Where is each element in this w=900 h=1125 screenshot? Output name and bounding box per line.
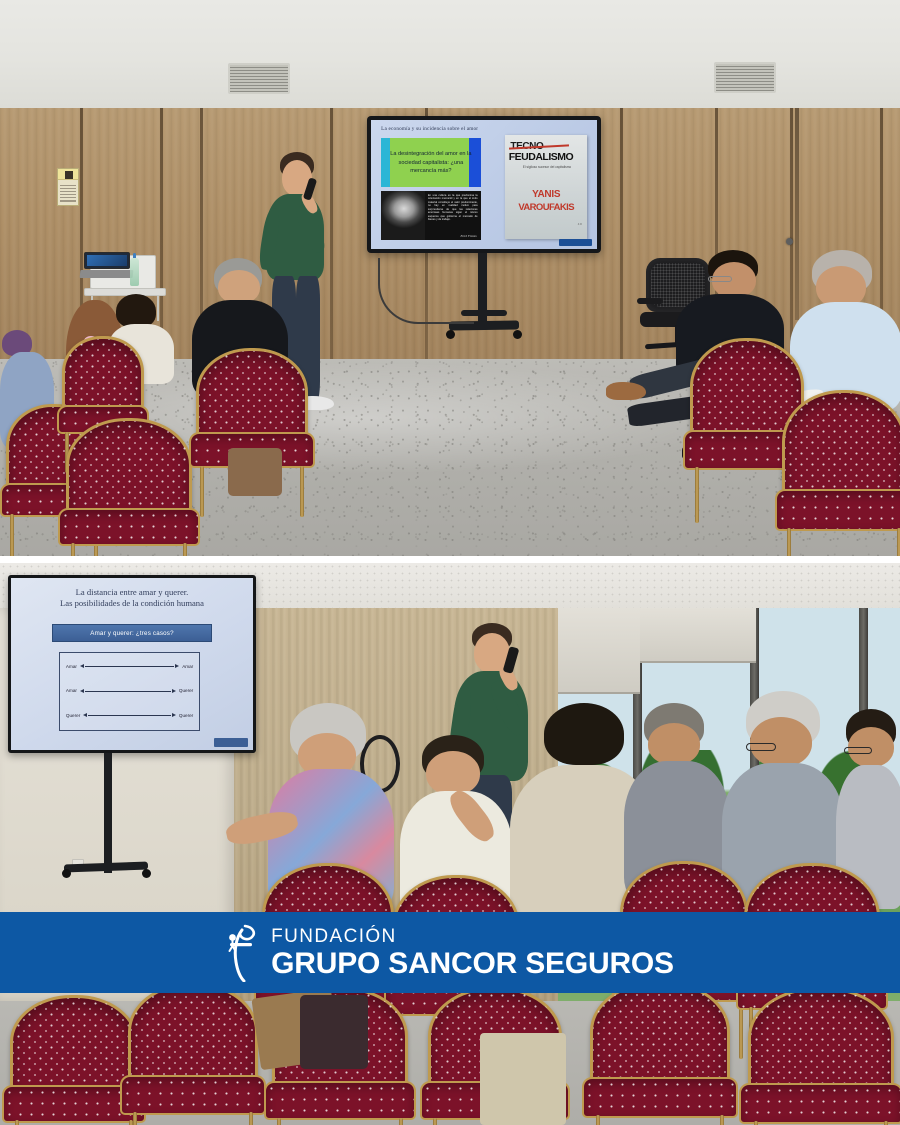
caster-wheel-icon (142, 869, 151, 878)
brand-line-fundacion: FUNDACIÓN (271, 927, 674, 946)
sponsor-banner: FUNDACIÓN GRUPO SANCOR SEGUROS (0, 912, 900, 993)
banquet-chair[interactable] (748, 987, 894, 1125)
slide-title-line2: Las posibilidades de la condición humana (21, 598, 244, 609)
slide-quote-text: En una cultura en la que predomina la or… (425, 191, 481, 240)
book-title-main: FEUDALISMO (509, 151, 584, 163)
erich-fromm-portrait (381, 191, 425, 240)
backpack (228, 448, 282, 496)
slide-title: La distancia entre amar y querer. Las po… (21, 587, 244, 609)
double-arrow-icon (80, 663, 179, 669)
caster-wheel-icon (513, 330, 522, 339)
book-price: 4 € (578, 222, 582, 226)
banquet-chair[interactable] (782, 390, 900, 540)
presentation-display: La distancia entre amar y querer. Las po… (8, 575, 256, 753)
diagram-row: Querer Querer (66, 710, 193, 721)
fundacion-logo: FUNDACIÓN GRUPO SANCOR SEGUROS (226, 924, 674, 982)
air-vent-icon (228, 63, 290, 94)
banquet-chair[interactable] (590, 981, 730, 1125)
camera-bag (300, 995, 368, 1069)
tv-stand-pole (104, 753, 112, 873)
eyeglasses-icon (708, 276, 732, 282)
caster-wheel-icon (62, 869, 71, 878)
slide-economia-amor: La economía y su incidencia sobre el amo… (371, 120, 597, 249)
eyeglasses-icon (844, 747, 872, 754)
banquet-chair[interactable] (128, 983, 258, 1123)
slide-corner-logo (559, 239, 593, 245)
photo-divider (0, 556, 900, 563)
pair-left-label: Querer (66, 713, 80, 718)
book-author-first: YANIS (515, 189, 577, 200)
window-blind[interactable] (640, 608, 756, 663)
eyeglasses-icon (746, 743, 776, 751)
book-cover-tecnofeudalismo: TECNO FEUDALISMO El sigiloso sucesor del… (505, 135, 586, 238)
beige-tote-bag (480, 1033, 566, 1125)
pair-right-label: Querer (179, 688, 193, 693)
wall-notice-sign (57, 168, 79, 206)
water-bottle (130, 258, 139, 286)
photo-lecture-audience: La distancia entre amar y querer. Las po… (0, 563, 900, 1125)
slide-quote-box: En una cultura en la que predomina la or… (381, 191, 480, 240)
slide-band-text: Amar y querer: ¿tres casos? (90, 630, 173, 637)
double-arrow-icon (80, 688, 176, 694)
banquet-chair[interactable] (10, 995, 138, 1125)
pair-left-label: Amar (66, 688, 77, 693)
slide-callout-text: La desintegración del amor en la socieda… (381, 150, 480, 174)
fundacion-person-figure-icon (226, 924, 260, 982)
pair-right-label: Querer (179, 713, 193, 718)
caster-wheel-icon (446, 330, 455, 339)
pair-right-label: Amar (182, 664, 193, 669)
slide-title: La economía y su incidencia sobre el amo… (381, 126, 589, 132)
pair-left-label: Amar (66, 664, 77, 669)
presentation-display: La economía y su incidencia sobre el amo… (367, 116, 601, 253)
diagram-row: Amar Amar (66, 661, 193, 672)
slide-corner-logo (214, 738, 248, 747)
slide-title-line1: La distancia entre amar y querer. (21, 587, 244, 598)
slide-band: Amar y querer: ¿tres casos? (52, 624, 212, 642)
window-blind[interactable] (558, 608, 640, 695)
collage-page: La economía y su incidencia sobre el amo… (0, 0, 900, 1125)
door-knob-icon (786, 238, 793, 245)
presenter-laptop (84, 252, 130, 278)
slide-diagram-box: Amar Amar Amar Querer Querer Quer (59, 652, 199, 731)
air-vent-icon (714, 62, 776, 93)
double-arrow-icon (83, 712, 176, 718)
slide-distancia-amar-querer: La distancia entre amar y querer. Las po… (11, 578, 253, 750)
power-cable (378, 258, 474, 324)
slide-callout-box: La desintegración del amor en la socieda… (381, 138, 480, 187)
book-author-last: VAROUFAKIS (509, 202, 584, 213)
photo-lecture-wide: La economía y su incidencia sobre el amo… (0, 0, 900, 556)
diagram-row: Amar Querer (66, 685, 193, 696)
slide-quote-author: Erich Fromm (460, 234, 476, 238)
banquet-chair[interactable] (66, 418, 192, 554)
book-subtitle: El sigiloso sucesor del capitalismo (519, 165, 576, 169)
brand-line-grupo-sancor-seguros: GRUPO SANCOR SEGUROS (271, 949, 674, 979)
